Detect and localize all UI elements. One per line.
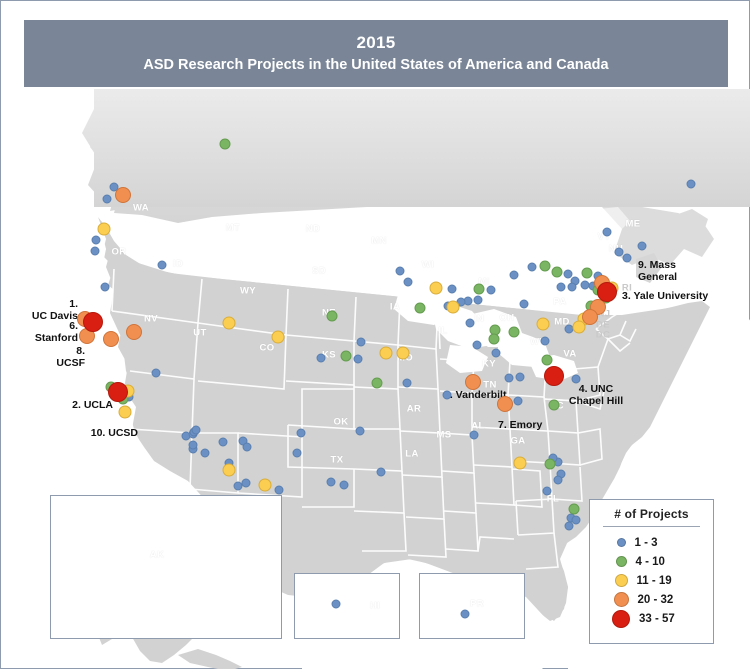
state-label-or: OR <box>111 247 126 258</box>
project-dot[interactable] <box>537 318 550 331</box>
legend-swatch-icon <box>615 574 628 587</box>
project-dot[interactable] <box>473 341 482 350</box>
project-dot[interactable] <box>474 284 485 295</box>
state-label-wa: WA <box>133 203 149 214</box>
callout-yale: 3. Yale University <box>622 291 708 303</box>
state-label-hi: HI <box>370 601 380 612</box>
project-dot[interactable] <box>297 429 306 438</box>
state-label-sd: SD <box>312 266 326 277</box>
project-dot[interactable] <box>582 309 598 325</box>
project-dot[interactable] <box>201 449 210 458</box>
poster-header: 2015 ASD Research Projects in the United… <box>24 20 728 87</box>
poster-frame: 2015 ASD Research Projects in the United… <box>0 0 750 669</box>
project-dot[interactable] <box>520 300 529 309</box>
project-dot[interactable] <box>158 261 167 270</box>
project-dot[interactable] <box>380 347 393 360</box>
callout-uc-davis: 1. UC Davis <box>32 299 78 322</box>
project-dot[interactable] <box>372 378 383 389</box>
callout-stanford: 6. Stanford <box>35 321 78 344</box>
project-dot[interactable] <box>219 438 228 447</box>
project-dot[interactable] <box>528 263 537 272</box>
project-dot[interactable] <box>430 282 443 295</box>
project-dot[interactable] <box>568 283 577 292</box>
state-label-nd: ND <box>306 224 321 235</box>
project-dot[interactable] <box>220 139 231 150</box>
project-dot[interactable] <box>259 479 272 492</box>
project-dot[interactable] <box>377 468 386 477</box>
project-dot[interactable] <box>356 427 365 436</box>
project-dot[interactable] <box>91 247 100 256</box>
legend-swatch-icon <box>614 592 629 607</box>
state-label-id: ID <box>173 259 183 270</box>
state-label-ms: MS <box>436 430 451 441</box>
project-dot[interactable] <box>327 478 336 487</box>
legend-item[interactable]: 11 - 19 <box>590 571 713 590</box>
state-label-oh: OH <box>499 313 514 324</box>
project-dot[interactable] <box>554 476 563 485</box>
project-dot[interactable] <box>341 351 352 362</box>
project-dot[interactable] <box>545 459 556 470</box>
legend-item-label: 20 - 32 <box>638 594 674 606</box>
legend-item[interactable]: 20 - 32 <box>590 590 713 609</box>
project-dot[interactable] <box>397 347 410 360</box>
project-dot[interactable] <box>510 271 519 280</box>
poster-year: 2015 <box>356 33 395 53</box>
project-dot[interactable] <box>403 379 412 388</box>
project-dot[interactable] <box>557 283 566 292</box>
state-label-tx: TX <box>331 455 344 466</box>
state-label-ak: AK <box>150 550 165 561</box>
callout-mass-general: 9. Mass General <box>638 260 677 283</box>
state-label-mt: MT <box>226 223 241 234</box>
state-label-wi: WI <box>422 260 434 271</box>
project-dot[interactable] <box>115 187 131 203</box>
state-label-me: ME <box>625 219 640 230</box>
legend-swatch-icon <box>617 538 626 547</box>
state-label-va: VA <box>563 349 576 360</box>
alaska-inset <box>50 495 282 639</box>
project-dot[interactable] <box>597 282 617 302</box>
state-label-mn: MN <box>371 236 387 247</box>
project-dot[interactable] <box>514 397 523 406</box>
state-label-wy: WY <box>240 286 256 297</box>
project-dot[interactable] <box>223 464 236 477</box>
project-dot[interactable] <box>83 312 103 332</box>
project-dot[interactable] <box>332 600 341 609</box>
state-label-ia: IA <box>390 302 400 313</box>
poster-subtitle: ASD Research Projects in the United Stat… <box>143 55 608 75</box>
state-label-ga: GA <box>510 436 525 447</box>
project-dot[interactable] <box>544 366 564 386</box>
project-dot[interactable] <box>497 396 513 412</box>
project-dot[interactable] <box>565 522 574 531</box>
project-dot[interactable] <box>492 349 501 358</box>
project-dot[interactable] <box>543 487 552 496</box>
callout-emory: 7. Emory <box>498 420 542 432</box>
project-dot[interactable] <box>354 355 363 364</box>
legend-rows: 1 - 34 - 1011 - 1920 - 3233 - 57 <box>590 533 713 628</box>
project-dot[interactable] <box>549 400 560 411</box>
project-dot[interactable] <box>242 479 251 488</box>
project-dot[interactable] <box>443 391 452 400</box>
project-dot[interactable] <box>540 261 551 272</box>
project-dot[interactable] <box>516 373 525 382</box>
state-label-la: LA <box>405 449 418 460</box>
project-dot[interactable] <box>582 268 593 279</box>
callout-ucsf: 8. UCSF <box>56 346 85 369</box>
project-dot[interactable] <box>541 337 550 346</box>
project-dot[interactable] <box>447 301 460 314</box>
state-label-nv: NV <box>144 314 158 325</box>
project-dot[interactable] <box>509 327 520 338</box>
project-dot[interactable] <box>119 406 132 419</box>
legend-item-label: 11 - 19 <box>637 575 672 587</box>
project-dot[interactable] <box>466 319 475 328</box>
project-dot[interactable] <box>317 354 326 363</box>
project-dot[interactable] <box>396 267 405 276</box>
legend-item[interactable]: 4 - 10 <box>590 552 713 571</box>
state-label-il: IL <box>438 326 447 337</box>
project-dot[interactable] <box>415 303 426 314</box>
project-dot[interactable] <box>126 324 142 340</box>
project-dot[interactable] <box>638 242 647 251</box>
legend-swatch-icon <box>616 556 627 567</box>
project-dot[interactable] <box>357 338 366 347</box>
project-dot[interactable] <box>489 334 500 345</box>
project-dot[interactable] <box>189 441 198 450</box>
project-dot[interactable] <box>340 481 349 490</box>
project-dot[interactable] <box>103 195 112 204</box>
project-dot[interactable] <box>514 457 527 470</box>
callout-unc: 4. UNC Chapel Hill <box>569 384 623 407</box>
project-dot[interactable] <box>542 355 553 366</box>
legend-item[interactable]: 33 - 57 <box>590 609 713 628</box>
state-label-ut: UT <box>193 328 206 339</box>
callout-ucsd: 10. UCSD <box>91 428 138 440</box>
project-dot[interactable] <box>243 443 252 452</box>
state-label-pr: PR <box>470 599 484 610</box>
project-dot[interactable] <box>101 283 110 292</box>
project-dot[interactable] <box>192 426 201 435</box>
project-dot[interactable] <box>465 374 481 390</box>
state-label-pa: PA <box>553 297 566 308</box>
project-dot[interactable] <box>293 449 302 458</box>
project-dot[interactable] <box>152 369 161 378</box>
legend-item-label: 4 - 10 <box>636 556 665 568</box>
project-dot[interactable] <box>505 374 514 383</box>
project-dot[interactable] <box>275 486 284 495</box>
legend-panel: # of Projects 1 - 34 - 1011 - 1920 - 323… <box>589 499 714 644</box>
state-label-co: CO <box>259 343 274 354</box>
state-label-ky: KY <box>482 359 496 370</box>
callout-ucla: 2. UCLA <box>72 400 113 412</box>
project-dot[interactable] <box>404 278 413 287</box>
project-dot[interactable] <box>603 228 612 237</box>
project-dot[interactable] <box>223 317 236 330</box>
project-dot[interactable] <box>470 431 479 440</box>
legend-divider <box>603 526 700 527</box>
project-dot[interactable] <box>474 296 483 305</box>
legend-title: # of Projects <box>590 507 713 521</box>
project-dot[interactable] <box>103 331 119 347</box>
project-dot[interactable] <box>327 311 338 322</box>
legend-item-label: 1 - 3 <box>635 537 658 549</box>
project-dot[interactable] <box>448 285 457 294</box>
project-dot[interactable] <box>98 223 111 236</box>
project-dot[interactable] <box>92 236 101 245</box>
legend-swatch-icon <box>612 610 630 628</box>
project-dot[interactable] <box>108 382 128 402</box>
project-dot[interactable] <box>461 610 470 619</box>
project-dot[interactable] <box>572 375 581 384</box>
state-label-dc: DC <box>596 330 611 341</box>
project-dot[interactable] <box>272 331 285 344</box>
legend-item-label: 33 - 57 <box>639 613 675 625</box>
state-label-ok: OK <box>333 417 348 428</box>
project-dot[interactable] <box>623 254 632 263</box>
project-dot[interactable] <box>687 180 696 189</box>
legend-item[interactable]: 1 - 3 <box>590 533 713 552</box>
hawaii-inset <box>294 573 400 639</box>
state-label-in: IN <box>474 314 484 325</box>
project-dot[interactable] <box>569 504 580 515</box>
project-dot[interactable] <box>487 286 496 295</box>
state-label-ar: AR <box>407 404 422 415</box>
project-dot[interactable] <box>552 267 563 278</box>
